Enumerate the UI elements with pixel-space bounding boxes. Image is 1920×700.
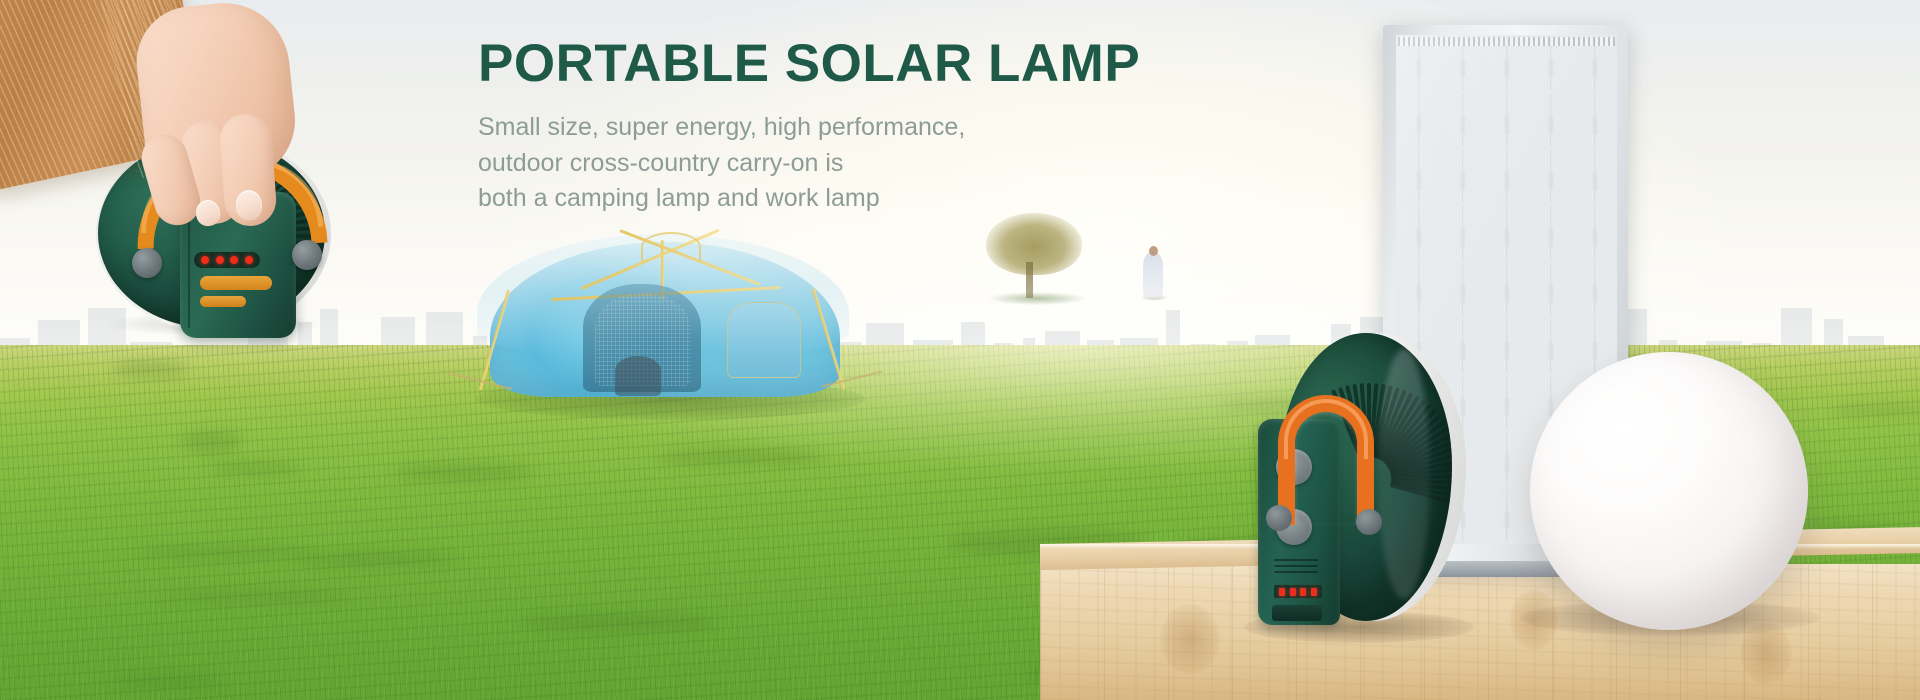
hand-holding-lamp bbox=[0, 0, 320, 284]
table-lamp-gloss bbox=[1378, 349, 1430, 599]
wood-knot bbox=[1160, 604, 1220, 674]
grass-patch bbox=[114, 676, 224, 687]
table-surface bbox=[1040, 564, 1920, 700]
camping-tent bbox=[455, 228, 875, 413]
banner-subtitle: Small size, super energy, high performan… bbox=[478, 110, 1238, 217]
battery-led-indicator bbox=[1274, 585, 1322, 598]
solar-cell bbox=[1486, 206, 1527, 259]
solar-cell bbox=[1574, 263, 1615, 316]
solar-cell bbox=[1530, 319, 1571, 372]
grass-patch bbox=[297, 552, 458, 566]
solar-cell bbox=[1574, 150, 1615, 203]
table-lamp-grill bbox=[1274, 565, 1318, 567]
subtitle-line-2: outdoor cross-country carry-on is bbox=[478, 146, 1238, 182]
handheld-lamp-accent-bar-small bbox=[200, 296, 246, 307]
solar-cell bbox=[1442, 150, 1483, 203]
tree-shadow bbox=[988, 292, 1086, 305]
banner-copy: PORTABLE SOLAR LAMP Small size, super en… bbox=[478, 36, 1238, 217]
led-indicator bbox=[1290, 588, 1296, 596]
grass-patch bbox=[1832, 405, 1920, 415]
panel-label-strip bbox=[1398, 37, 1615, 46]
tent-window bbox=[727, 302, 801, 378]
solar-cell bbox=[1486, 150, 1527, 203]
solar-cell bbox=[1486, 263, 1527, 316]
solar-cell bbox=[1398, 206, 1439, 259]
solar-cell bbox=[1486, 432, 1527, 485]
solar-cell bbox=[1486, 376, 1527, 429]
solar-cell bbox=[1442, 263, 1483, 316]
grass-patch bbox=[657, 448, 823, 465]
solar-cell bbox=[1398, 93, 1439, 146]
grass-patch bbox=[393, 463, 532, 481]
solar-cell bbox=[1530, 150, 1571, 203]
promo-banner: PORTABLE SOLAR LAMP Small size, super en… bbox=[0, 0, 1920, 700]
solar-cell bbox=[1486, 489, 1527, 542]
solar-cell bbox=[1398, 263, 1439, 316]
solar-cell bbox=[1530, 206, 1571, 259]
handle-pivot bbox=[1356, 509, 1382, 535]
tent-vent bbox=[641, 232, 701, 262]
grass-patch bbox=[523, 614, 716, 632]
camp-stool bbox=[615, 356, 661, 396]
solar-cell bbox=[1486, 319, 1527, 372]
table-solar-lamp bbox=[1258, 333, 1466, 638]
solar-cell bbox=[1574, 93, 1615, 146]
solar-cell bbox=[1442, 93, 1483, 146]
subtitle-line-3: both a camping lamp and work lamp bbox=[478, 181, 1238, 217]
solar-cell bbox=[1442, 206, 1483, 259]
led-indicator bbox=[1311, 588, 1317, 596]
led-indicator bbox=[1300, 588, 1306, 596]
grass-patch bbox=[113, 360, 186, 378]
solar-cell bbox=[1530, 93, 1571, 146]
handle-pivot bbox=[1266, 505, 1292, 531]
table-lamp-grill bbox=[1274, 571, 1318, 573]
tree-trunk bbox=[1026, 262, 1033, 298]
charging-port bbox=[1272, 605, 1322, 621]
tree-icon bbox=[986, 213, 1082, 275]
solar-cell bbox=[1530, 263, 1571, 316]
table-lamp-grill bbox=[1274, 559, 1318, 561]
solar-cell bbox=[1574, 206, 1615, 259]
white-globe-lamp bbox=[1530, 352, 1808, 630]
solar-cell bbox=[1486, 93, 1527, 146]
person-figure bbox=[1143, 252, 1163, 298]
person-head bbox=[1149, 246, 1158, 256]
led-indicator bbox=[1279, 588, 1285, 596]
solar-cell bbox=[1398, 150, 1439, 203]
page-title: PORTABLE SOLAR LAMP bbox=[478, 36, 1238, 92]
subtitle-line-1: Small size, super energy, high performan… bbox=[478, 110, 1238, 146]
